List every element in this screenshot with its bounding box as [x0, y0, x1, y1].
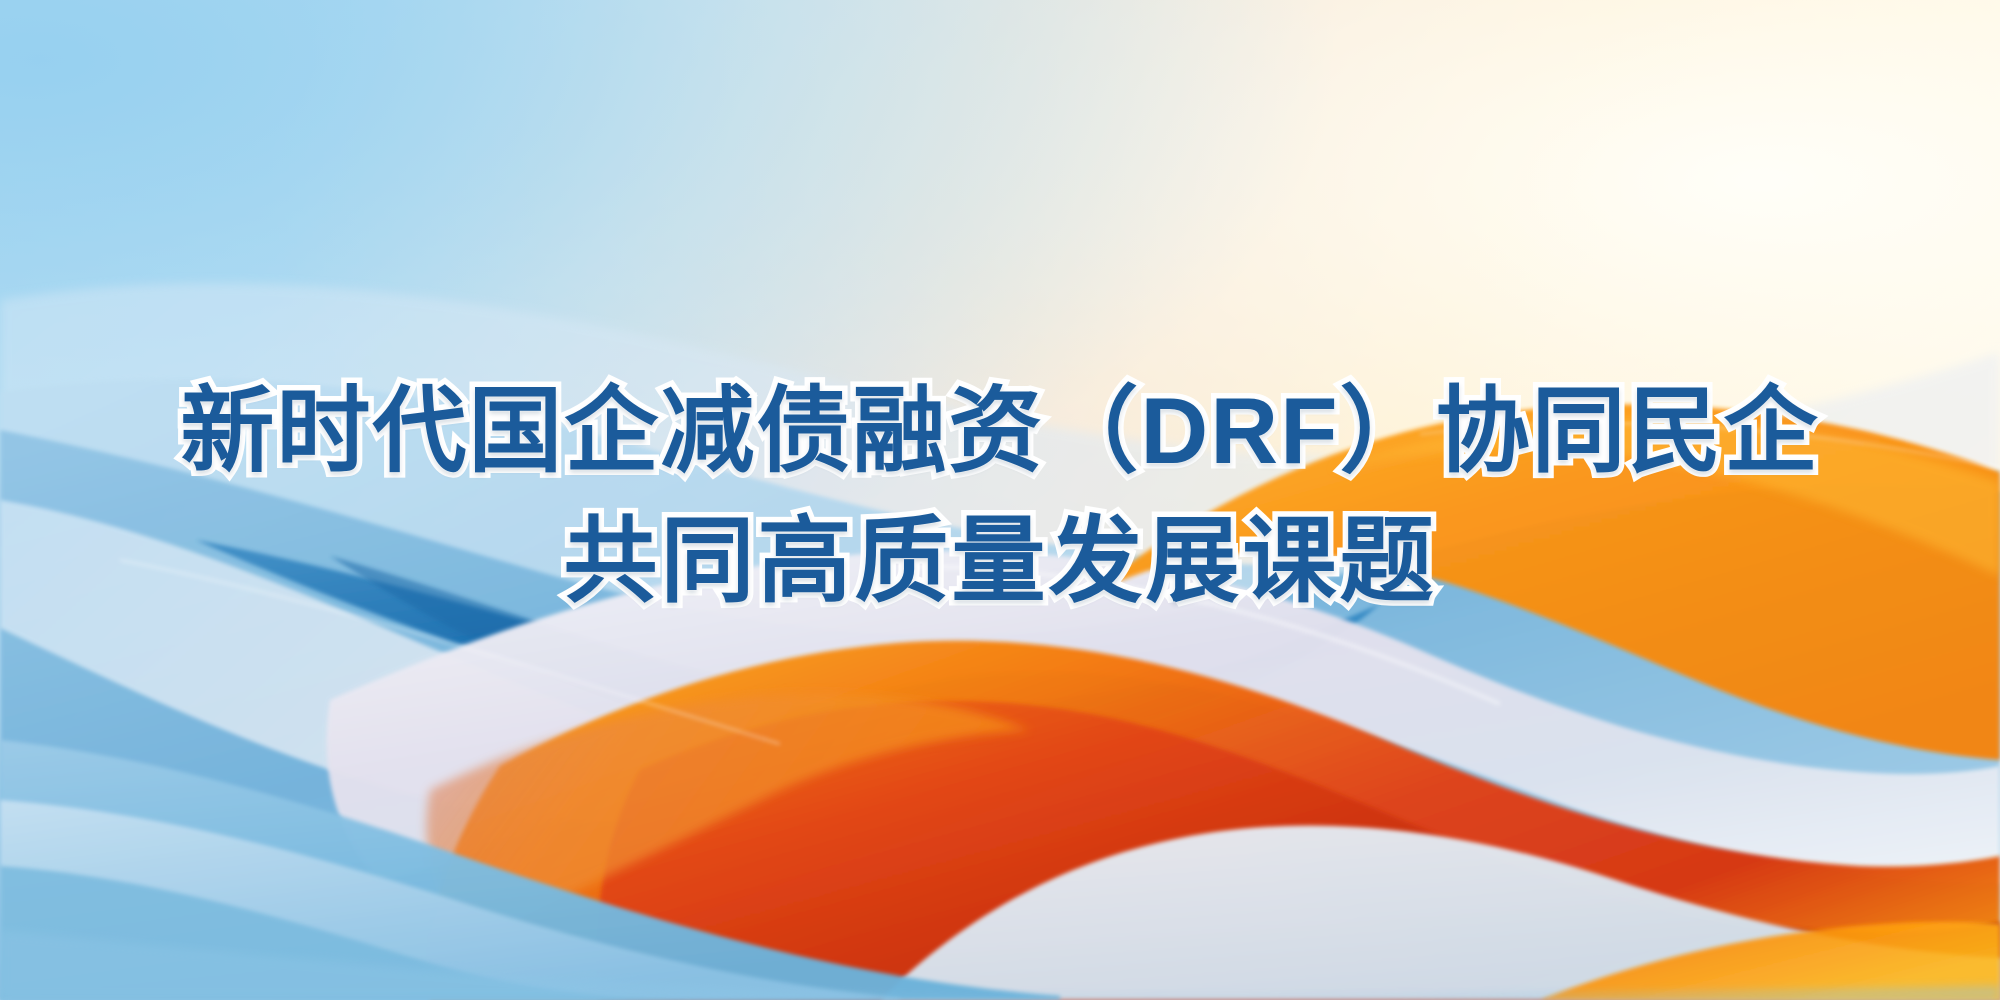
banner-container: 新时代国企减债融资（DRF）协同民企 共同高质量发展课题 — [0, 0, 2000, 1000]
abstract-wave-artwork — [0, 0, 2000, 1000]
